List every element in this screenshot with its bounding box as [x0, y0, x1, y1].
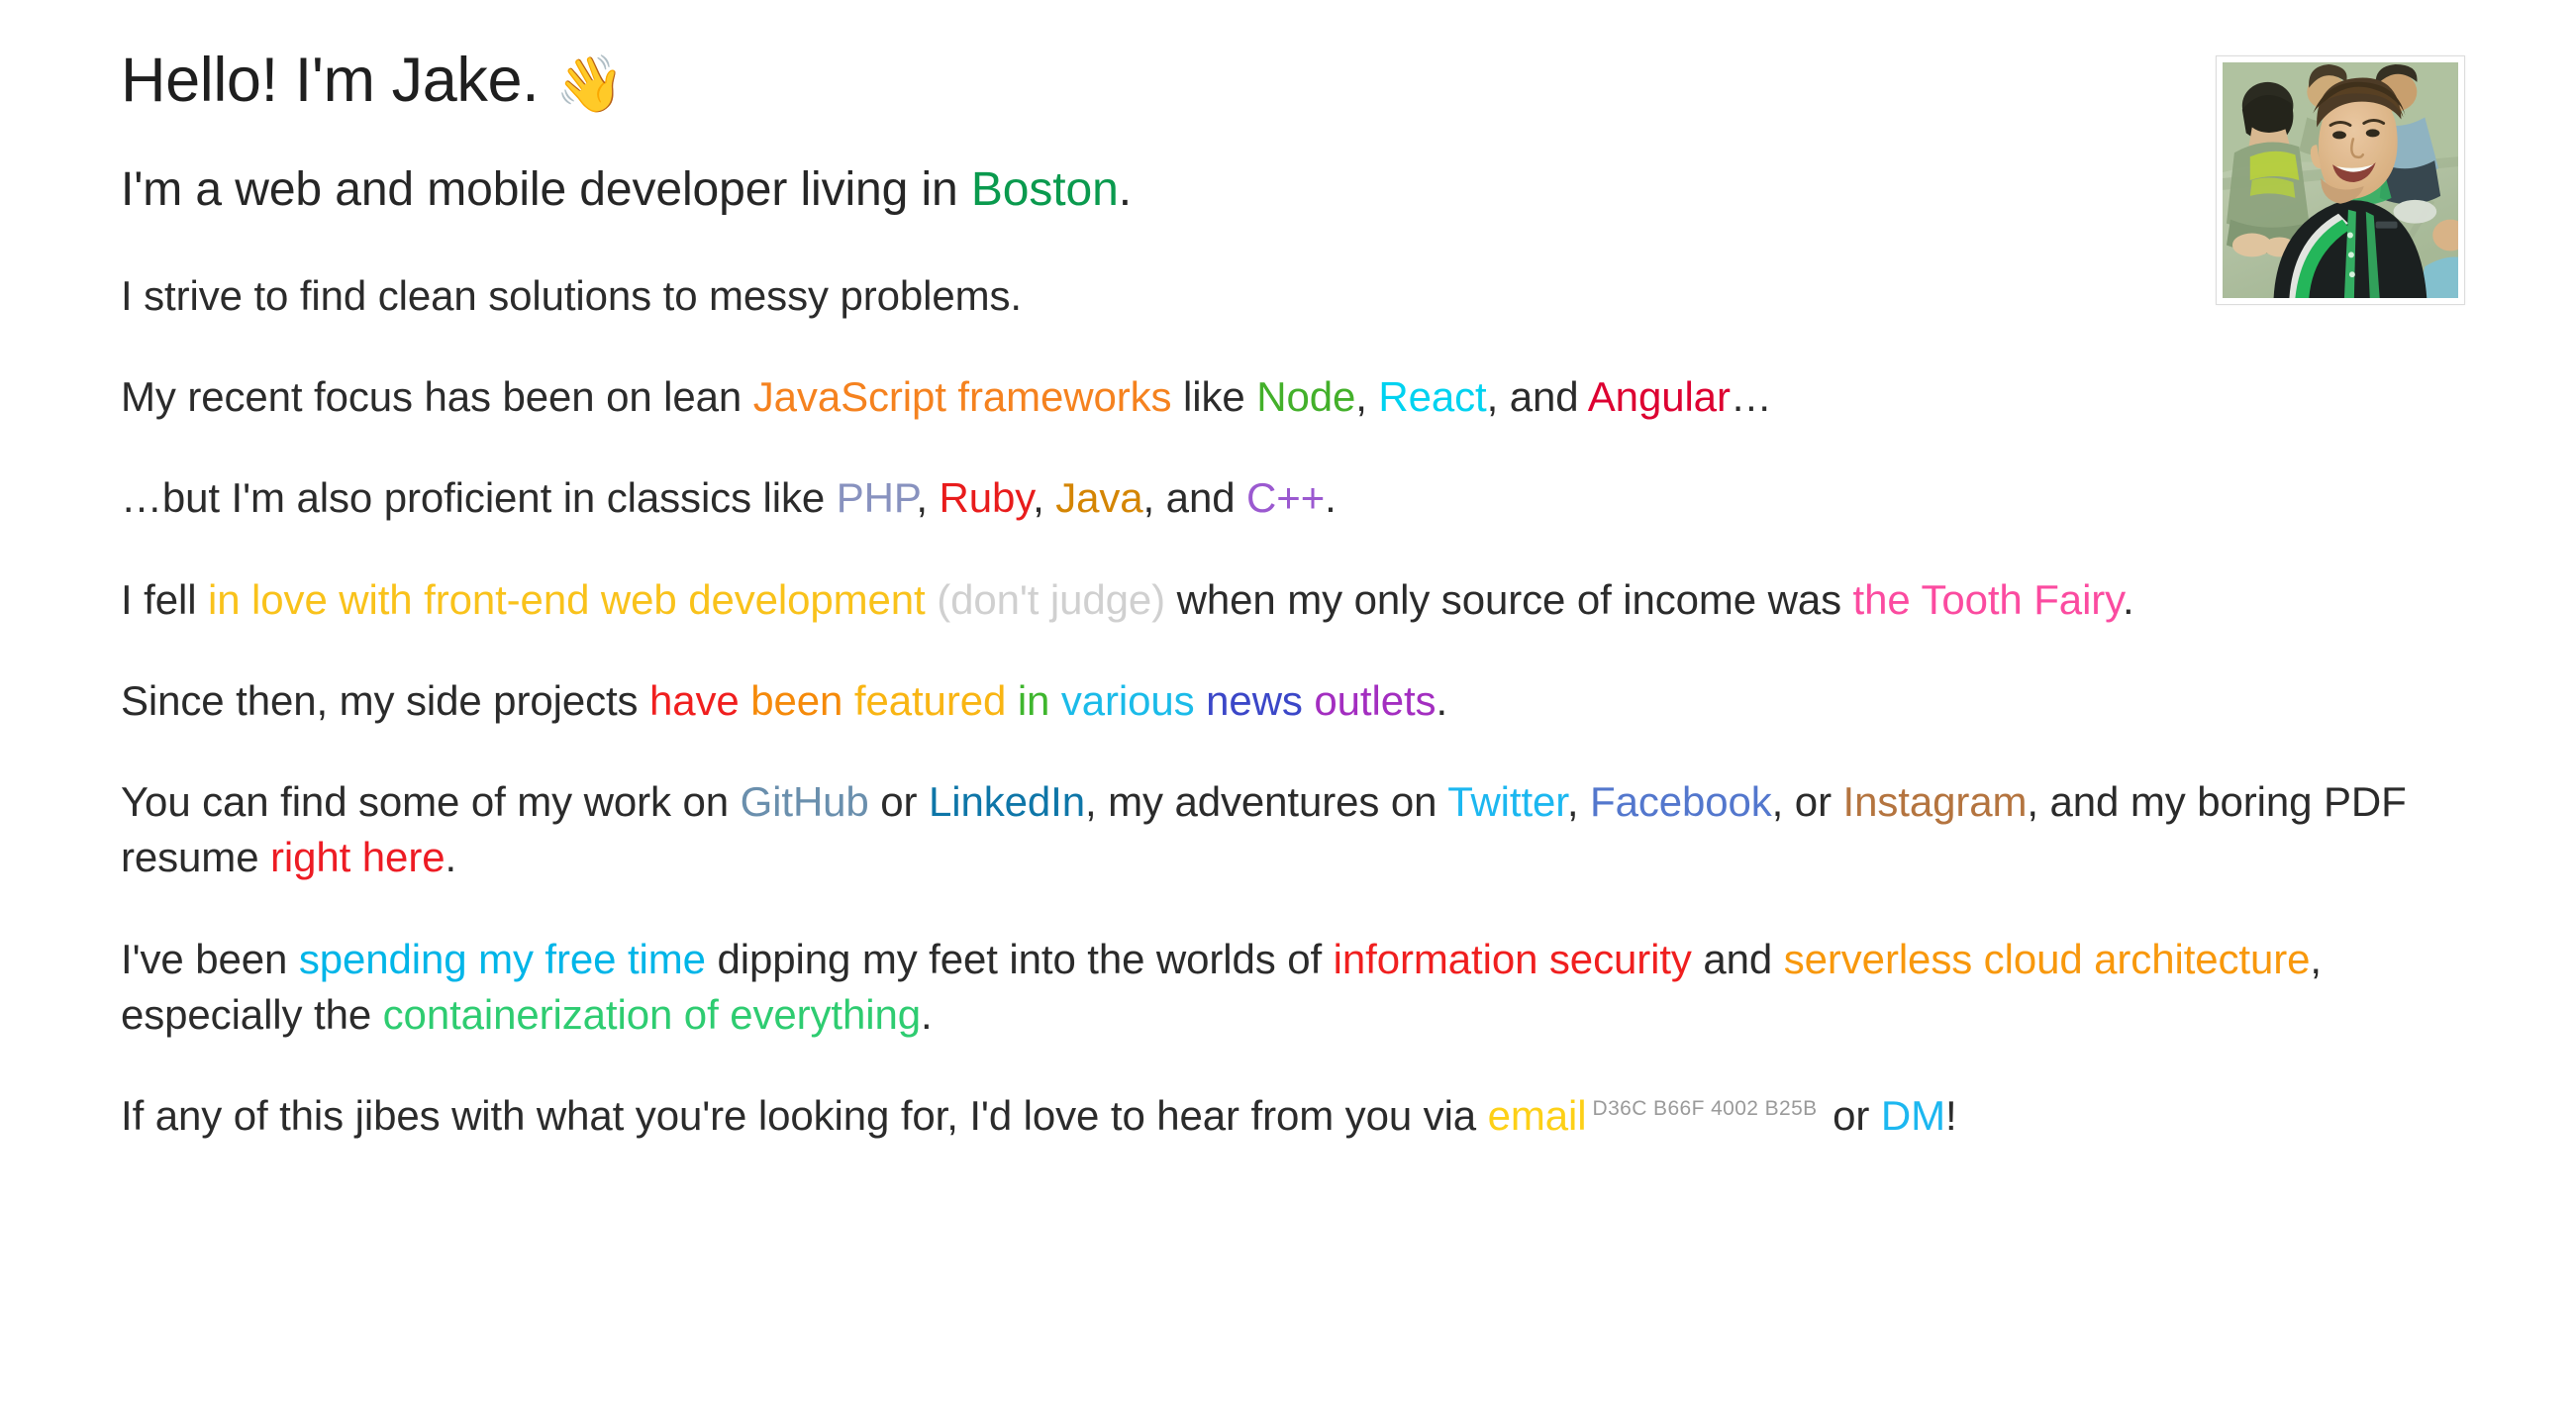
- link-instagram[interactable]: Instagram: [1843, 778, 2028, 825]
- link-resume[interactable]: right here: [270, 834, 445, 880]
- link-containerization[interactable]: containerization of everything: [383, 991, 921, 1038]
- link-news[interactable]: news: [1206, 677, 1303, 724]
- link-been[interactable]: been: [750, 677, 842, 724]
- focus-text-5: …: [1731, 373, 1772, 420]
- featured-text-2: .: [1436, 677, 1447, 724]
- link-node[interactable]: Node: [1256, 373, 1355, 420]
- intro-content: Hello! I'm Jake. 👋 I'm a web and mobile …: [121, 44, 2477, 1144]
- freetime-text-3: and: [1692, 936, 1784, 982]
- strive-text: I strive to find clean solutions to mess…: [121, 272, 1022, 319]
- paragraph-classics: …but I'm also proficient in classics lik…: [121, 470, 2447, 526]
- link-github[interactable]: GitHub: [741, 778, 869, 825]
- love-text-3: .: [2123, 576, 2134, 623]
- classics-text-3: ,: [1033, 474, 1055, 521]
- contact-text-3: !: [1945, 1092, 1957, 1139]
- page-title-text: Hello! I'm Jake.: [121, 46, 539, 115]
- link-various[interactable]: various: [1061, 677, 1195, 724]
- featured-text-1: Since then, my side projects: [121, 677, 649, 724]
- link-facebook[interactable]: Facebook: [1590, 778, 1772, 825]
- link-outlets[interactable]: outlets: [1314, 677, 1436, 724]
- link-information-security[interactable]: information security: [1334, 936, 1692, 982]
- featured-space-3: [1006, 677, 1018, 724]
- intro-lead-paragraph: I'm a web and mobile developer living in…: [121, 160, 2427, 220]
- love-space-1: [926, 576, 938, 623]
- paragraph-contact: If any of this jibes with what you're lo…: [121, 1088, 2447, 1144]
- link-tooth-fairy[interactable]: the Tooth Fairy: [1853, 576, 2123, 623]
- links-text-2: or: [869, 778, 929, 825]
- love-text-2: when my only source of income was: [1165, 576, 1852, 623]
- link-linkedin[interactable]: LinkedIn: [929, 778, 1085, 825]
- paragraph-links: You can find some of my work on GitHub o…: [121, 774, 2447, 886]
- classics-text-1: …but I'm also proficient in classics lik…: [121, 474, 837, 521]
- links-text-3: , my adventures on: [1085, 778, 1447, 825]
- lead-text-after: .: [1119, 163, 1132, 216]
- waving-hand-emoji: 👋: [555, 52, 624, 115]
- love-aside: (don't judge): [937, 576, 1165, 623]
- featured-space-2: [842, 677, 854, 724]
- link-have[interactable]: have: [649, 677, 740, 724]
- featured-space-5: [1195, 677, 1207, 724]
- freetime-text-5: .: [921, 991, 933, 1038]
- links-text-7: .: [445, 834, 456, 880]
- featured-space-1: [740, 677, 751, 724]
- link-twitter[interactable]: Twitter: [1447, 778, 1567, 825]
- link-boston[interactable]: Boston: [971, 163, 1119, 216]
- paragraph-featured: Since then, my side projects have been f…: [121, 673, 2447, 729]
- contact-text-1: If any of this jibes with what you're lo…: [121, 1092, 1488, 1139]
- link-php[interactable]: PHP: [837, 474, 917, 521]
- paragraph-focus: My recent focus has been on lean JavaScr…: [121, 369, 2447, 425]
- link-serverless-cloud-architecture[interactable]: serverless cloud architecture: [1784, 936, 2311, 982]
- link-spending-free-time[interactable]: spending my free time: [299, 936, 706, 982]
- classics-text-5: .: [1325, 474, 1337, 521]
- love-text-1: I fell: [121, 576, 208, 623]
- focus-text-3: ,: [1355, 373, 1378, 420]
- link-in[interactable]: in: [1018, 677, 1050, 724]
- link-ruby[interactable]: Ruby: [940, 474, 1034, 521]
- link-cpp[interactable]: C++: [1246, 474, 1325, 521]
- link-dm[interactable]: DM: [1881, 1092, 1945, 1139]
- featured-space-6: [1303, 677, 1315, 724]
- link-front-end-love[interactable]: in love with front-end web development: [208, 576, 926, 623]
- profile-photo-frame: [2216, 55, 2465, 305]
- link-angular[interactable]: Angular: [1588, 373, 1731, 420]
- link-java[interactable]: Java: [1055, 474, 1142, 521]
- link-javascript-frameworks[interactable]: JavaScript frameworks: [753, 373, 1172, 420]
- profile-photo: [2223, 62, 2458, 298]
- focus-text-2: like: [1171, 373, 1256, 420]
- paragraph-strive: I strive to find clean solutions to mess…: [121, 268, 2447, 324]
- links-text-4: ,: [1567, 778, 1590, 825]
- link-react[interactable]: React: [1378, 373, 1486, 420]
- paragraph-freetime: I've been spending my free time dipping …: [121, 932, 2447, 1044]
- contact-text-2: or: [1822, 1092, 1881, 1139]
- link-featured[interactable]: featured: [854, 677, 1006, 724]
- links-text-5: , or: [1772, 778, 1843, 825]
- focus-text-1: My recent focus has been on lean: [121, 373, 753, 420]
- link-email[interactable]: email: [1488, 1092, 1587, 1139]
- links-text-1: You can find some of my work on: [121, 778, 741, 825]
- lead-text-before: I'm a web and mobile developer living in: [121, 163, 971, 216]
- classics-text-2: ,: [916, 474, 939, 521]
- featured-space-4: [1049, 677, 1061, 724]
- paragraph-love: I fell in love with front-end web develo…: [121, 572, 2447, 628]
- focus-text-4: , and: [1487, 373, 1588, 420]
- profile-intro-page: Hello! I'm Jake. 👋 I'm a web and mobile …: [0, 0, 2576, 1414]
- freetime-text-2: dipping my feet into the worlds of: [706, 936, 1334, 982]
- classics-text-4: , and: [1143, 474, 1246, 521]
- freetime-text-1: I've been: [121, 936, 299, 982]
- pgp-key-fingerprint: D36C B66F 4002 B25B: [1593, 1097, 1818, 1120]
- page-title: Hello! I'm Jake. 👋: [121, 44, 2477, 117]
